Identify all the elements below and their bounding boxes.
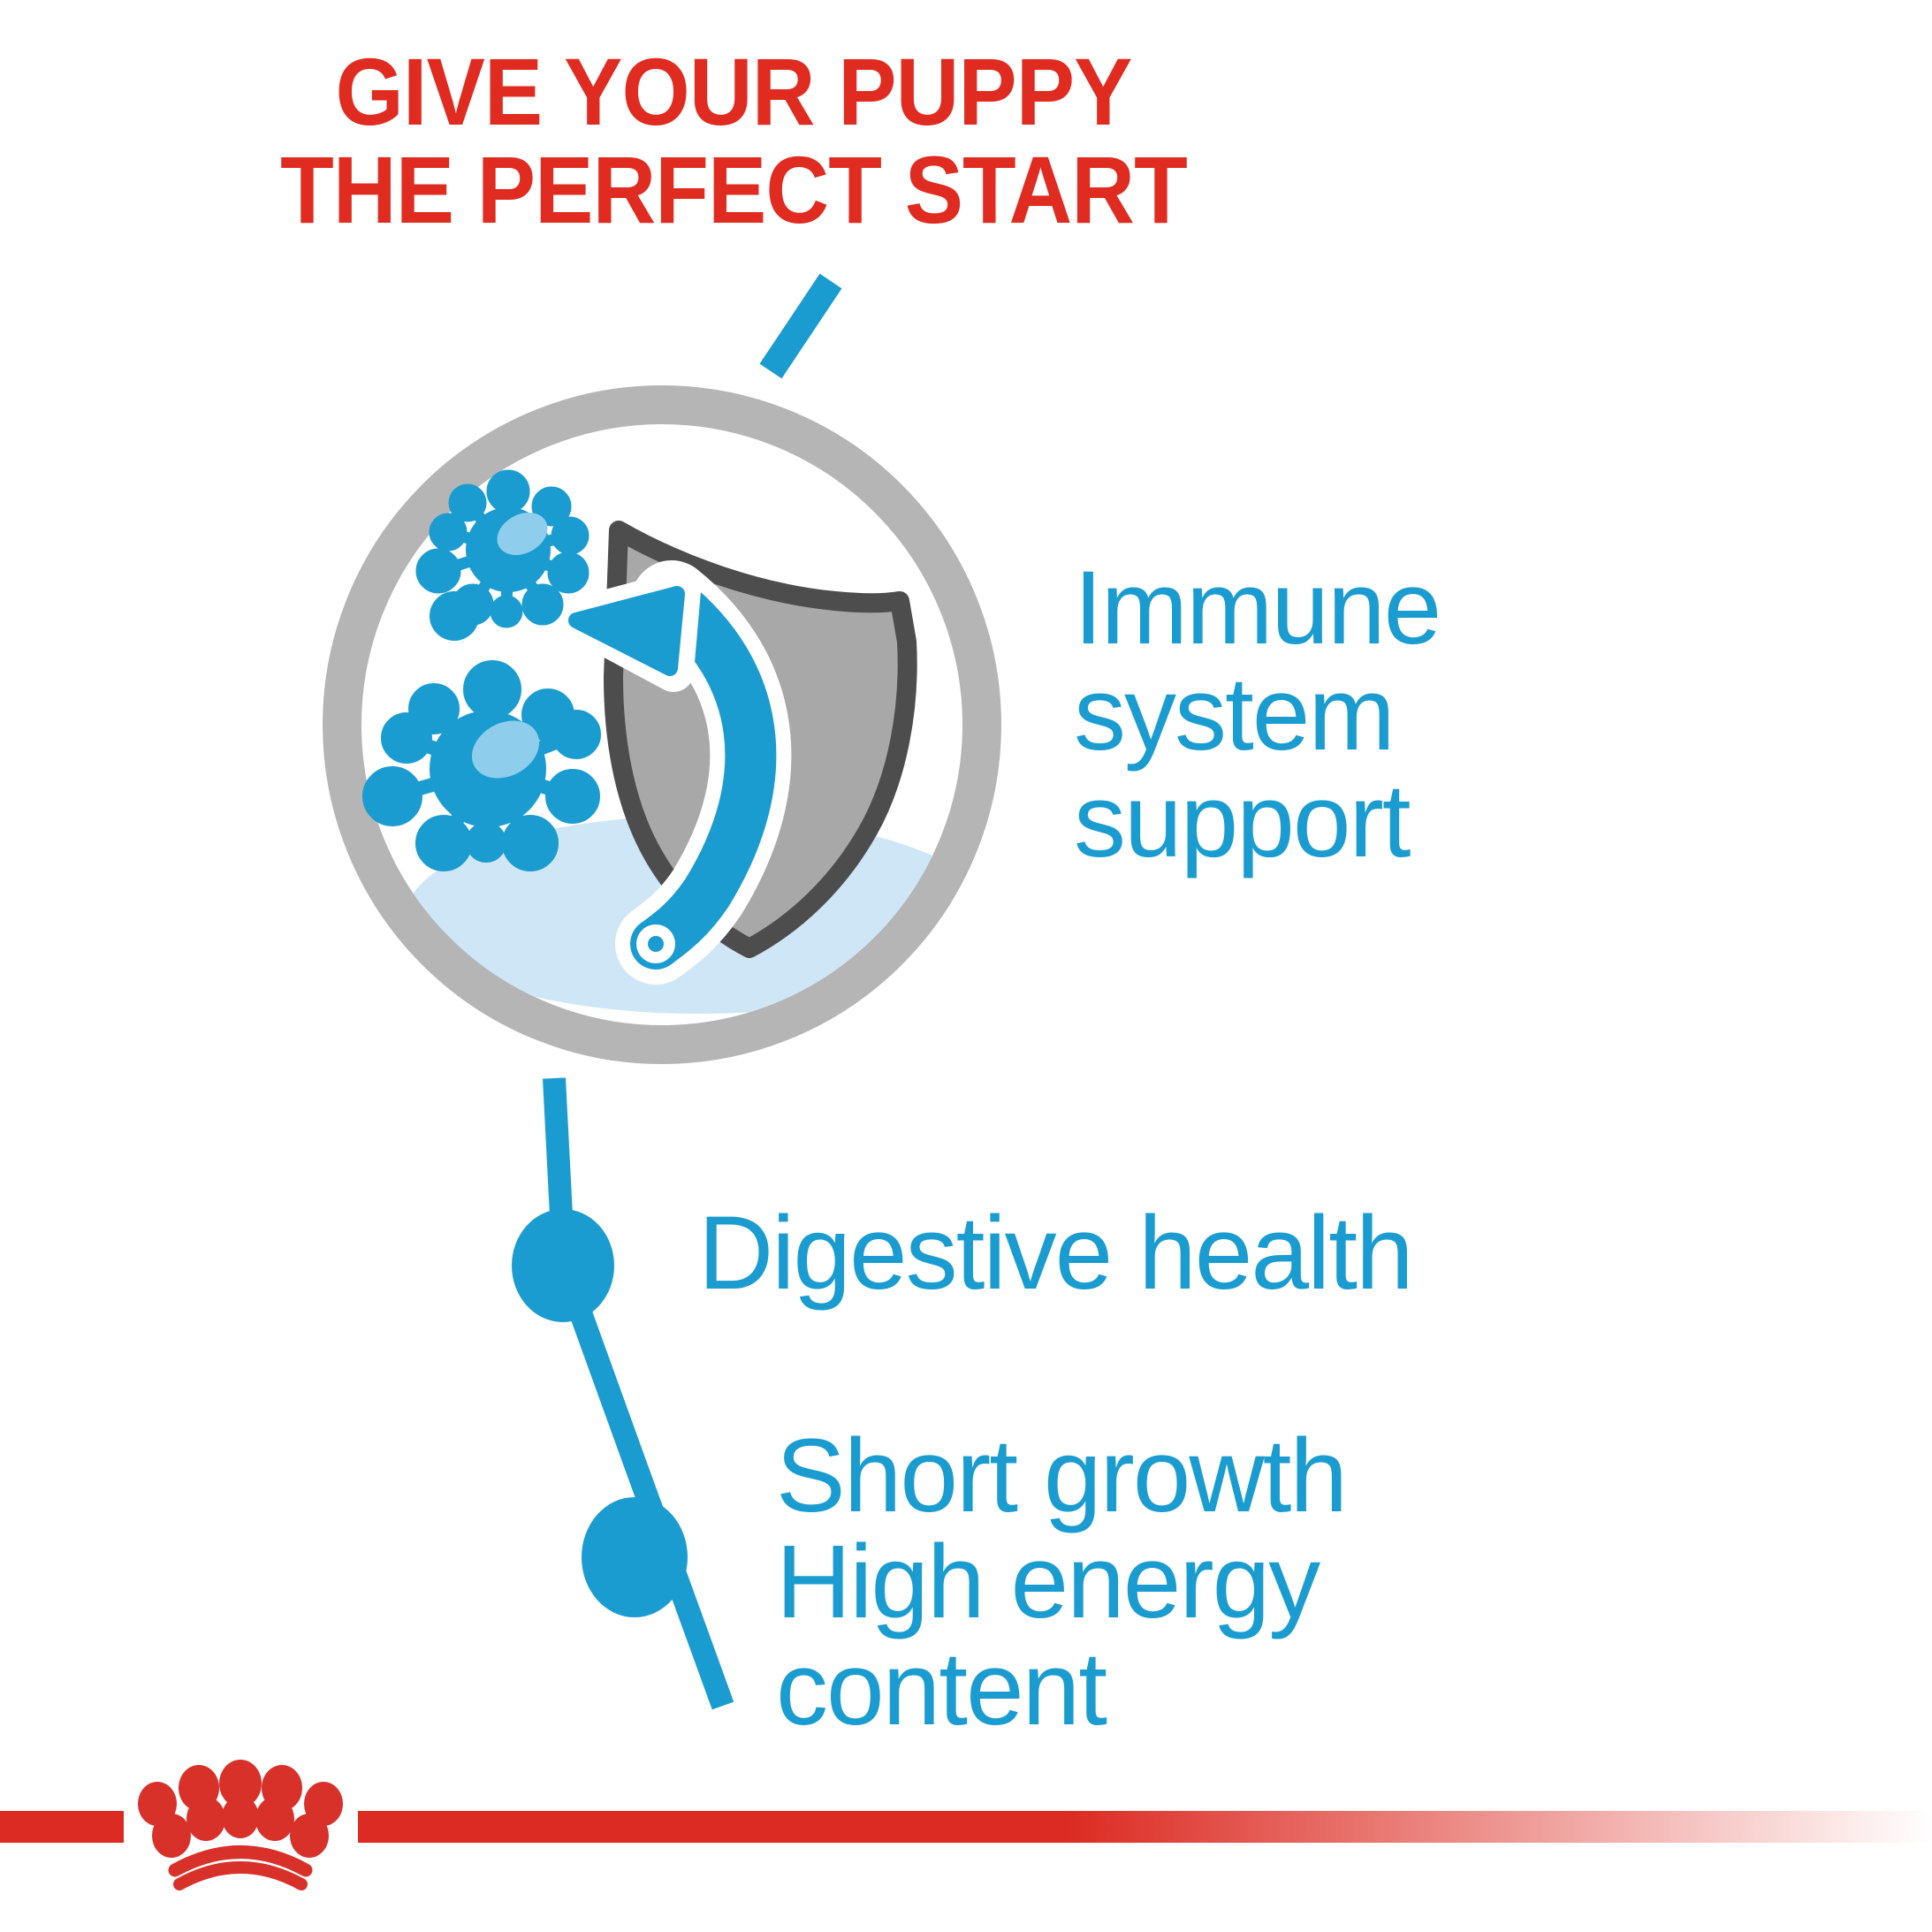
- royal-canin-crown-logo: [138, 1760, 343, 1884]
- brand-bar-right: [358, 1811, 1932, 1843]
- leader-dot-2: [582, 1497, 688, 1617]
- poster-canvas: GIVE YOUR PUPPY THE PERFECT START: [0, 0, 1932, 1932]
- leader-dot-1: [512, 1209, 614, 1322]
- benefit-label-short-growth-high-energy-content: Short growth High energy content: [776, 1423, 1346, 1742]
- virus-dot: [430, 591, 479, 641]
- footer-brand-bar: [0, 1750, 1932, 1932]
- benefit-label-digestive-health: Digestive health: [698, 1200, 1412, 1306]
- leader-line-top: [771, 281, 831, 371]
- brand-bar-left: [0, 1811, 124, 1843]
- benefit-label-immune-system-support: Immune system support: [1074, 555, 1440, 874]
